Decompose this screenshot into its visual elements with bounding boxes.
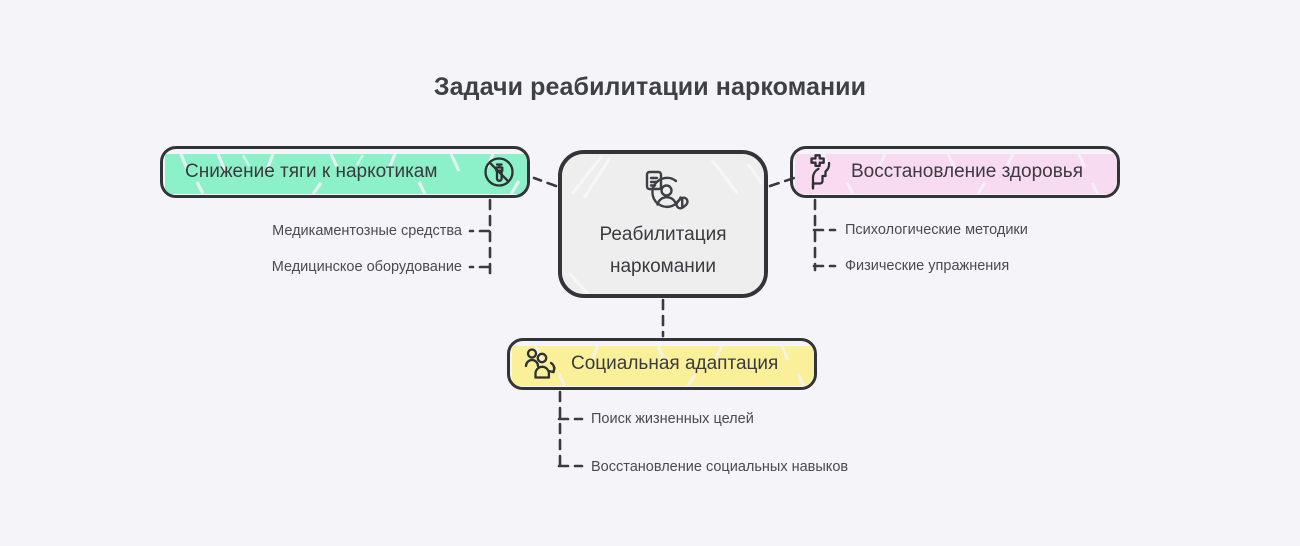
sub-label-social-1: Восстановление социальных навыков bbox=[591, 459, 848, 475]
page-title: Задачи реабилитации наркомании bbox=[0, 73, 1300, 102]
node-social-label: Социальная адаптация bbox=[571, 353, 778, 375]
sub-label-health-1: Физические упражнения bbox=[845, 258, 1009, 274]
node-branch-health[interactable]: Восстановление здоровья bbox=[790, 146, 1120, 198]
sub-label-social-0: Поиск жизненных целей bbox=[591, 411, 754, 427]
person-document-pill-icon bbox=[635, 168, 691, 216]
no-drugs-icon bbox=[481, 154, 517, 190]
node-branch-social[interactable]: Социальная адаптация bbox=[507, 338, 817, 390]
connector-center-craving bbox=[534, 178, 556, 186]
sub-label-health-0: Психологические методики bbox=[845, 222, 1028, 238]
head-medical-plus-icon bbox=[805, 154, 839, 190]
node-health-label: Восстановление здоровья bbox=[851, 161, 1083, 183]
sub-label-craving-1: Медицинское оборудование bbox=[200, 259, 462, 275]
sub-label-craving-0: Медикаментозные средства bbox=[200, 223, 462, 239]
node-craving-label: Снижение тяги к наркотикам bbox=[185, 161, 437, 183]
people-group-arrow-icon bbox=[523, 347, 559, 381]
node-center[interactable]: Реабилитация наркомании bbox=[558, 150, 768, 298]
node-branch-craving[interactable]: Снижение тяги к наркотикам bbox=[160, 146, 530, 198]
node-center-label-line1: Реабилитация bbox=[599, 222, 726, 248]
node-center-label-line2: наркомании bbox=[610, 254, 716, 280]
